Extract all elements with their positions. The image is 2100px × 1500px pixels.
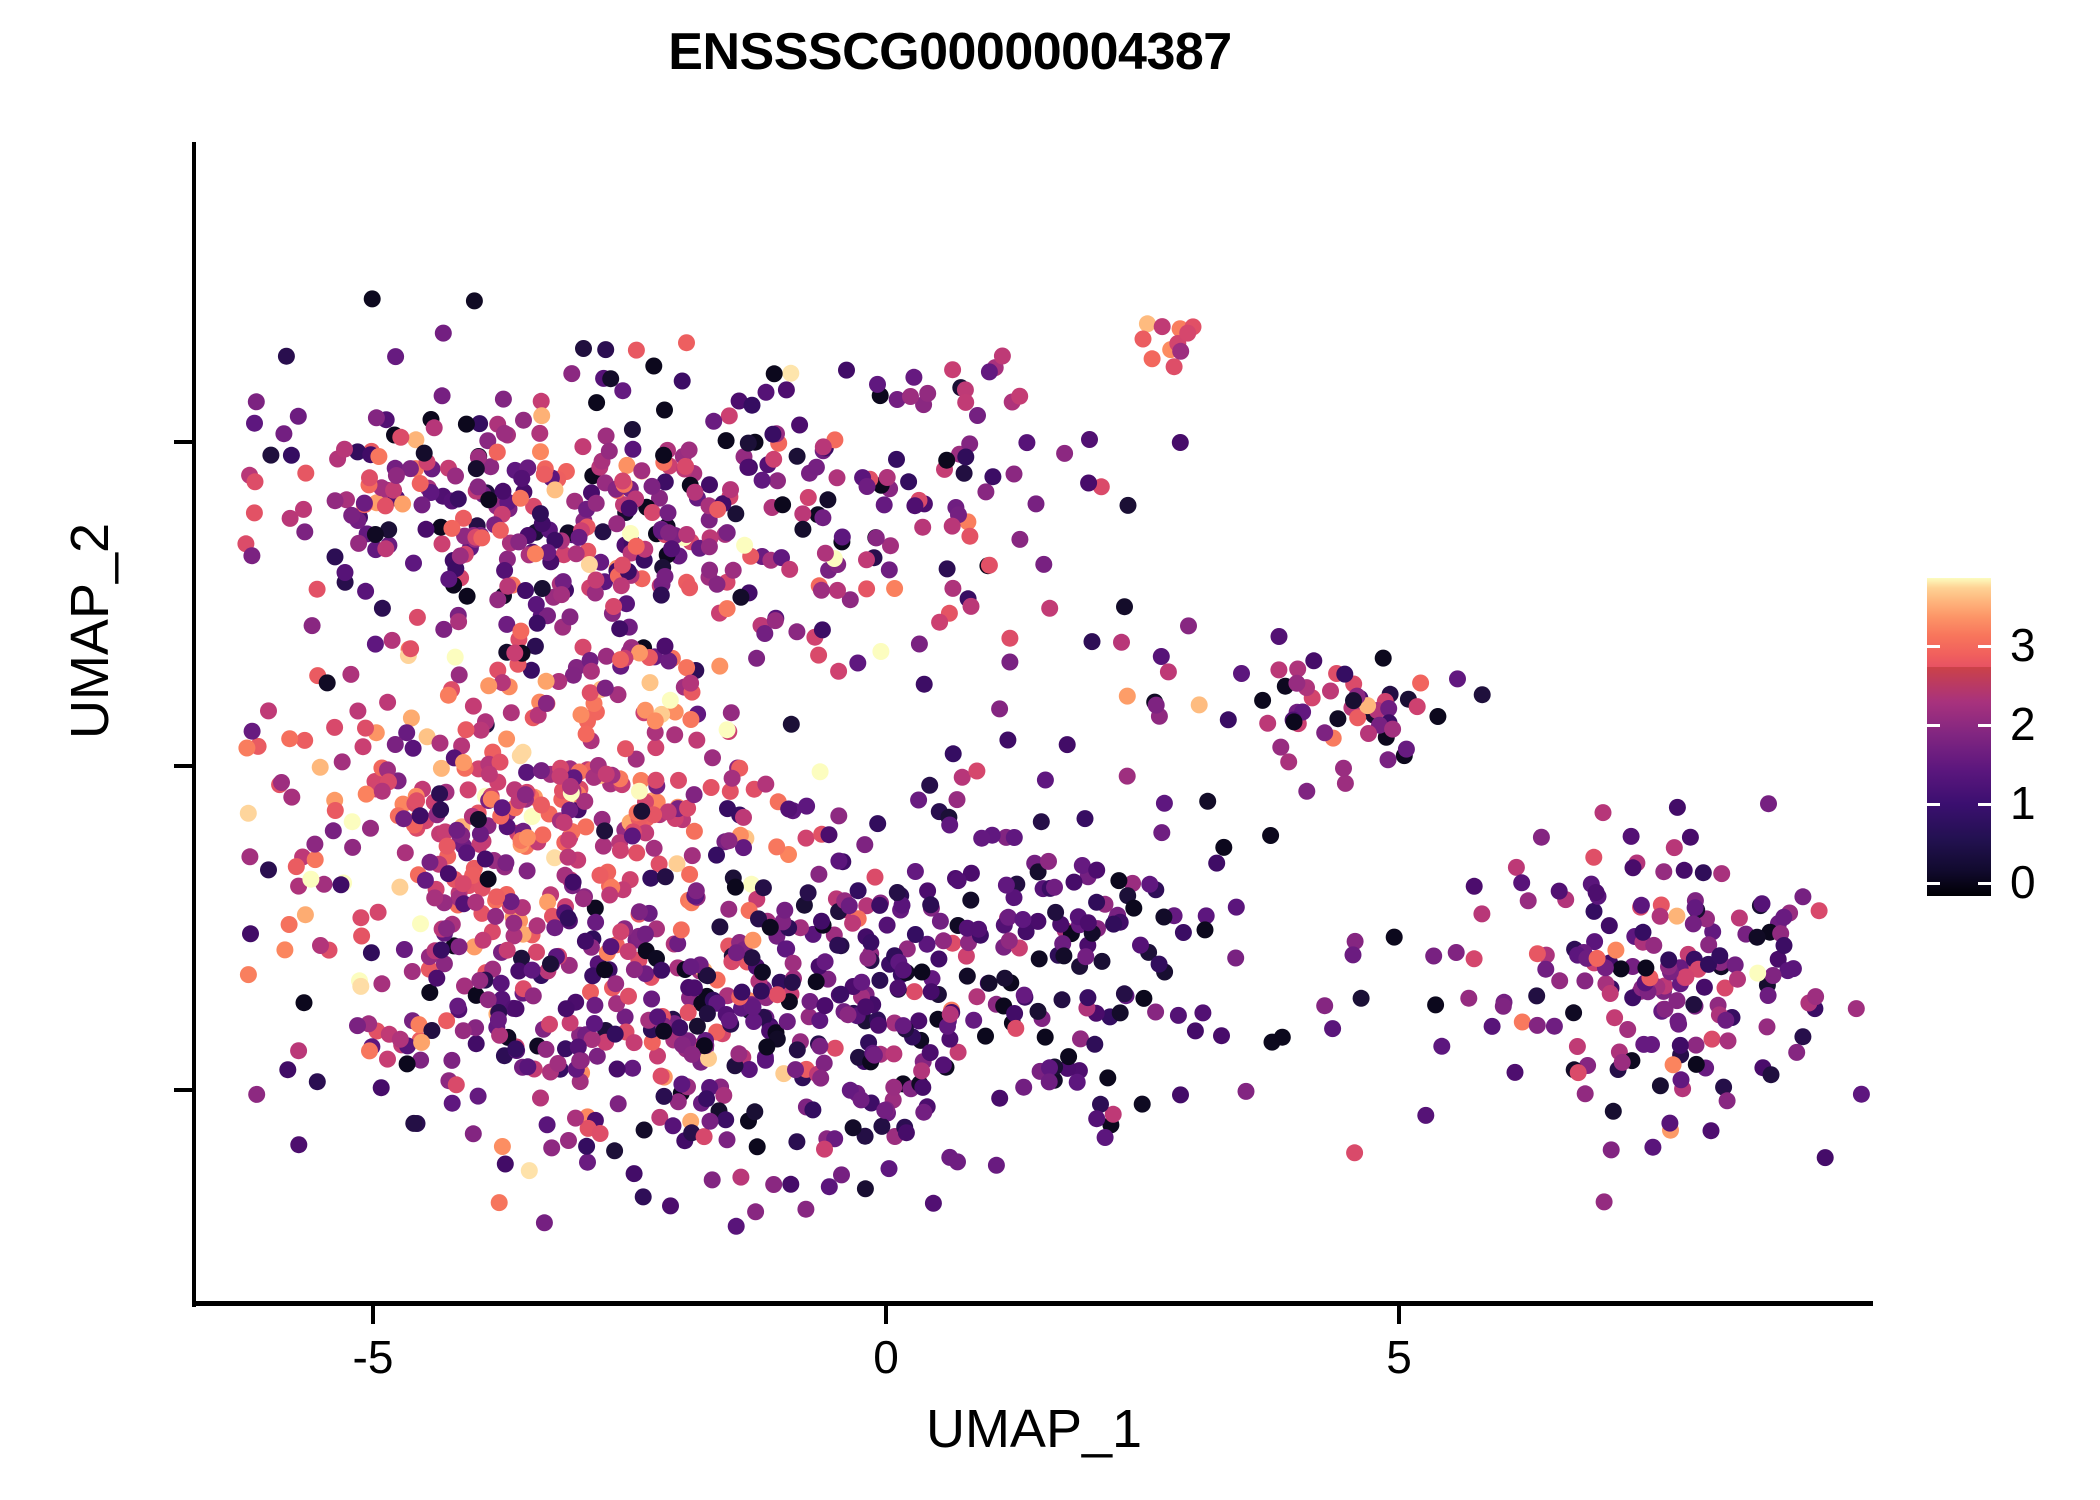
colorbar-tick-3-right (1978, 645, 1991, 648)
plot-panel (195, 142, 1873, 1304)
colorbar-tick-2-right (1978, 724, 1991, 727)
x-axis-label: UMAP_1 (195, 1398, 1873, 1460)
x-tick-label-m5: -5 (293, 1330, 453, 1384)
y-tick-mark-0 (174, 764, 192, 768)
plot-background (195, 142, 1873, 1304)
colorbar-tick-2-left (1927, 724, 1940, 727)
colorbar-tick-3-left (1927, 645, 1940, 648)
x-tick-mark-m5 (371, 1306, 375, 1324)
x-axis-line (192, 1301, 1873, 1306)
colorbar-tick-0-right (1978, 882, 1991, 885)
x-tick-label-5: 5 (1319, 1330, 1479, 1384)
colorbar-gradient (1927, 578, 1991, 896)
x-tick-label-0: 0 (806, 1330, 966, 1384)
colorbar-label-1: 1 (2010, 776, 2100, 830)
colorbar-tick-0-left (1927, 882, 1940, 885)
colorbar-label-0: 0 (2010, 855, 2100, 909)
page-title: ENSSSCG00000004387 (0, 22, 1900, 82)
y-axis-label: UMAP_2 (59, 231, 121, 1031)
colorbar-label-3: 3 (2010, 618, 2100, 672)
colorbar-tick-1-right (1978, 803, 1991, 806)
y-tick-mark-4 (174, 440, 192, 444)
y-axis-line (192, 142, 196, 1307)
y-tick-mark-m4 (174, 1088, 192, 1092)
x-tick-mark-5 (1397, 1306, 1401, 1324)
colorbar-legend (1927, 578, 1991, 896)
colorbar-label-2: 2 (2010, 697, 2100, 751)
umap-feature-plot: ENSSSCG00000004387 4 0 -4 -5 0 5 UMAP_1 … (0, 0, 2100, 1500)
x-tick-mark-0 (884, 1306, 888, 1324)
colorbar-tick-1-left (1927, 803, 1940, 806)
